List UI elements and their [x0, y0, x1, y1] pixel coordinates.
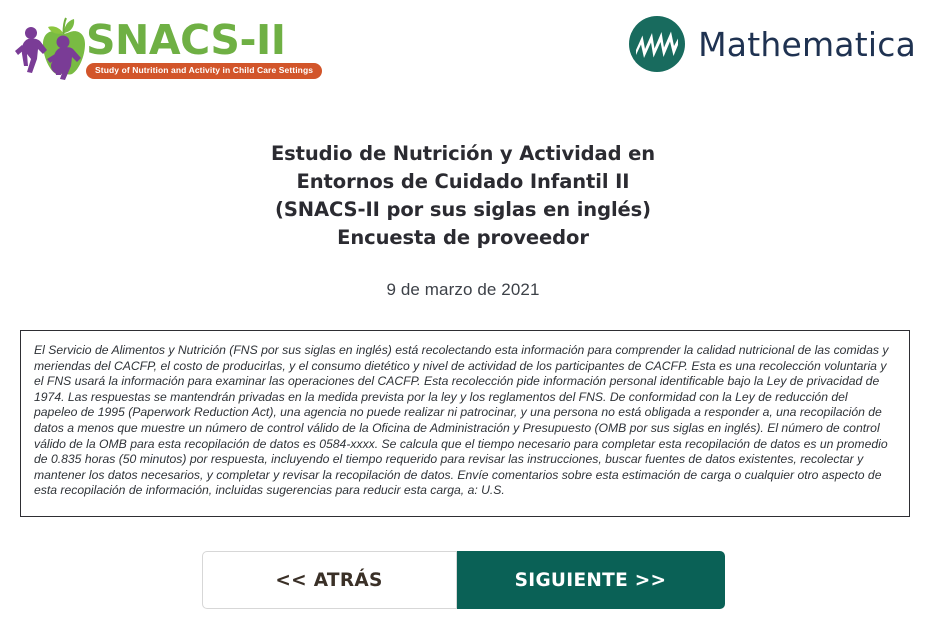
mathematica-m-icon	[629, 16, 685, 72]
next-button[interactable]: SIGUIENTE >>	[457, 551, 725, 609]
snacs-wordmark: SNACS-II	[86, 20, 322, 60]
omb-burden-notice: El Servicio de Alimentos y Nutrición (FN…	[20, 330, 910, 517]
omb-burden-notice-text: El Servicio de Alimentos y Nutrición (FN…	[34, 343, 893, 499]
title-line-1: Estudio de Nutrición y Actividad en	[0, 140, 926, 168]
survey-date: 9 de marzo de 2021	[0, 280, 926, 300]
mathematica-wordmark: Mathematica	[698, 25, 916, 64]
back-button[interactable]: << ATRÁS	[202, 551, 457, 609]
page-title: Estudio de Nutrición y Actividad en Ento…	[0, 140, 926, 252]
snacs-logo: SNACS-II Study of Nutrition and Activity…	[14, 14, 322, 84]
page-header: SNACS-II Study of Nutrition and Activity…	[0, 0, 926, 96]
mathematica-logo: Mathematica	[629, 16, 916, 72]
title-line-4: Encuesta de proveedor	[0, 224, 926, 252]
navigation-buttons: << ATRÁS SIGUIENTE >>	[0, 551, 926, 609]
apple-with-children-icon	[14, 14, 92, 80]
title-line-3: (SNACS-II por sus siglas en inglés)	[0, 196, 926, 224]
title-line-2: Entornos de Cuidado Infantil II	[0, 168, 926, 196]
snacs-tagline: Study of Nutrition and Activity in Child…	[86, 63, 322, 79]
